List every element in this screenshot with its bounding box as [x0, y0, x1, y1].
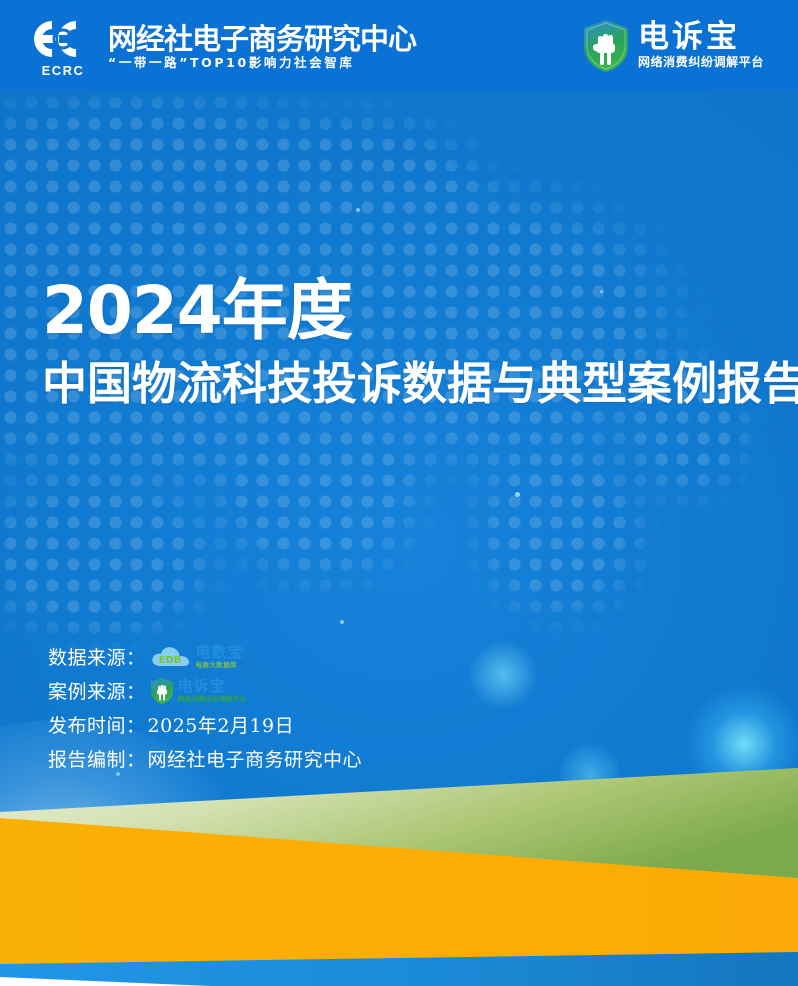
shield-fist-icon	[150, 677, 174, 705]
dsb-name: 电诉宝	[638, 22, 764, 53]
edb-name: 电数宝	[196, 645, 244, 660]
ecrc-brand[interactable]: ECRC 网经社电子商务研究中心 “一带一路”TOP10影响力社会智库	[28, 15, 416, 77]
meta-value-publish-date: 2025年2月19日	[146, 711, 295, 738]
ecrc-acronym: ECRC	[28, 63, 98, 78]
meta-label: 发布时间：	[48, 711, 146, 738]
cloud-edb-icon: EDB	[150, 644, 192, 670]
svg-text:EDB: EDB	[158, 655, 181, 666]
sparkle-dot	[356, 208, 360, 212]
edb-tagline: 电商大数据库	[196, 662, 244, 669]
shield-fist-icon	[582, 19, 630, 73]
dsb-name: 电诉宝	[178, 679, 247, 694]
sparkle-dot	[340, 620, 344, 624]
dsb-tagline: 网络消费纠纷调解平台	[638, 53, 764, 71]
sparkle-dot	[515, 492, 520, 497]
page-header: ECRC 网经社电子商务研究中心 “一带一路”TOP10影响力社会智库	[0, 0, 798, 92]
page-subtitle: 中国物流科技投诉数据与典型案例报告	[42, 359, 798, 409]
dsb-tagline: 网络消费纠纷调解平台	[178, 696, 247, 703]
ecrc-ec-monogram-icon: ECRC	[28, 15, 98, 77]
cover-meta-block: 数据来源： EDB 电数宝 电商大数据库 案例来源：	[48, 644, 362, 771]
bottom-wave-decoration	[0, 756, 798, 986]
meta-row-data-source: 数据来源： EDB 电数宝 电商大数据库	[48, 644, 362, 669]
meta-row-publish-date: 发布时间： 2025年2月19日	[48, 712, 362, 737]
meta-label: 数据来源：	[48, 643, 146, 670]
page-title: 2024年度	[42, 276, 798, 345]
ecrc-tagline: “一带一路”TOP10影响力社会智库	[108, 56, 416, 70]
dsb-mini-logo[interactable]: 电诉宝 网络消费纠纷调解平台	[150, 677, 247, 705]
report-cover-page: ECRC 网经社电子商务研究中心 “一带一路”TOP10影响力社会智库	[0, 0, 798, 986]
edb-mini-logo[interactable]: EDB 电数宝 电商大数据库	[150, 644, 244, 670]
meta-label: 案例来源：	[48, 677, 146, 704]
cover-title-block: 2024年度 中国物流科技投诉数据与典型案例报告	[42, 276, 798, 409]
meta-row-case-source: 案例来源：	[48, 678, 362, 703]
dsb-brand[interactable]: 电诉宝 网络消费纠纷调解平台	[582, 19, 764, 73]
ecrc-name: 网经社电子商务研究中心	[108, 24, 416, 54]
